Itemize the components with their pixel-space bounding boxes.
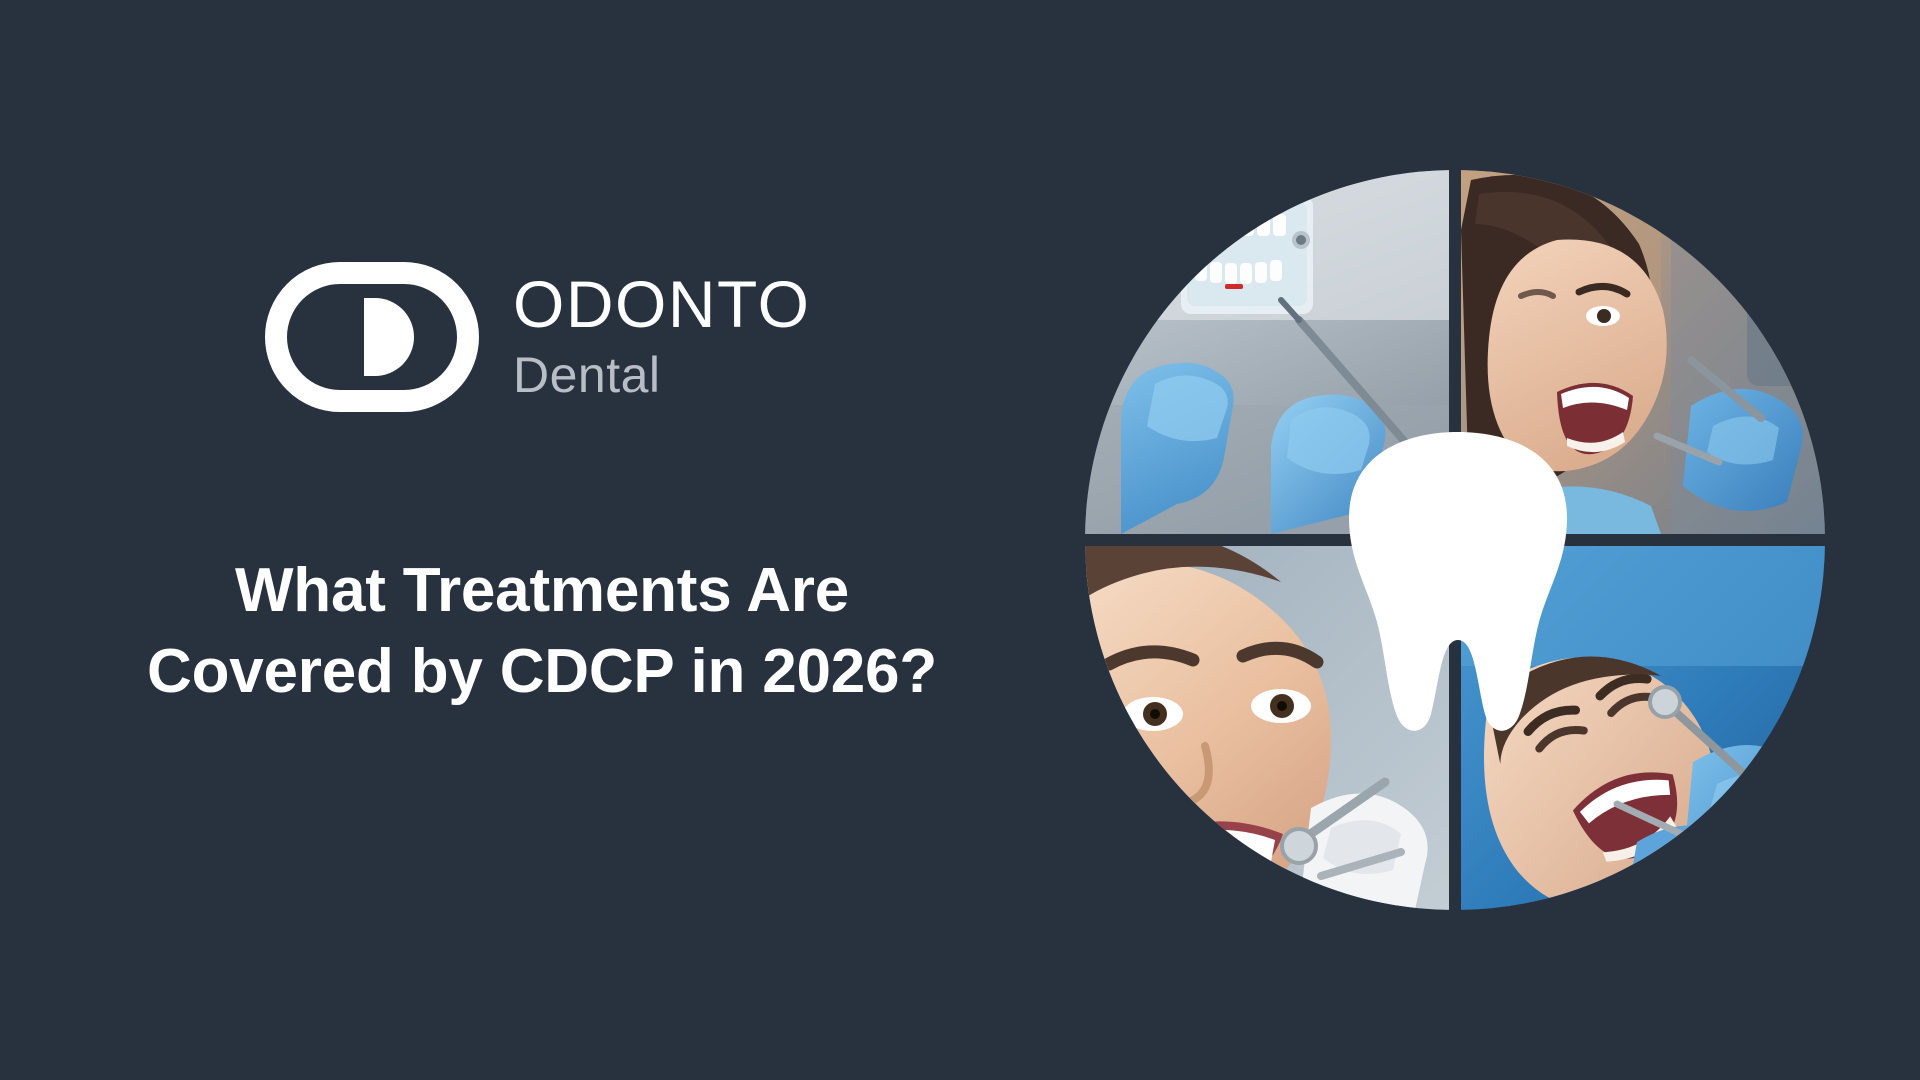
promo-banner: ODONTO Dental What Treatments Are Covere… — [0, 0, 1920, 1080]
brand-lockup: ODONTO Dental — [265, 262, 810, 412]
left-content-column: ODONTO Dental What Treatments Are Covere… — [0, 0, 1080, 1080]
headline-line-1: What Treatments Are — [92, 550, 992, 632]
brand-wordmark: ODONTO Dental — [513, 267, 810, 407]
headline: What Treatments Are Covered by CDCP in 2… — [92, 550, 992, 714]
photo-collage — [1085, 170, 1825, 910]
brand-subtitle: Dental — [513, 344, 810, 407]
odonto-od-monogram-icon — [265, 262, 479, 412]
headline-line-2: Covered by CDCP in 2026? — [92, 631, 992, 713]
brand-name: ODONTO — [513, 271, 810, 338]
tooth-icon — [1343, 426, 1573, 736]
